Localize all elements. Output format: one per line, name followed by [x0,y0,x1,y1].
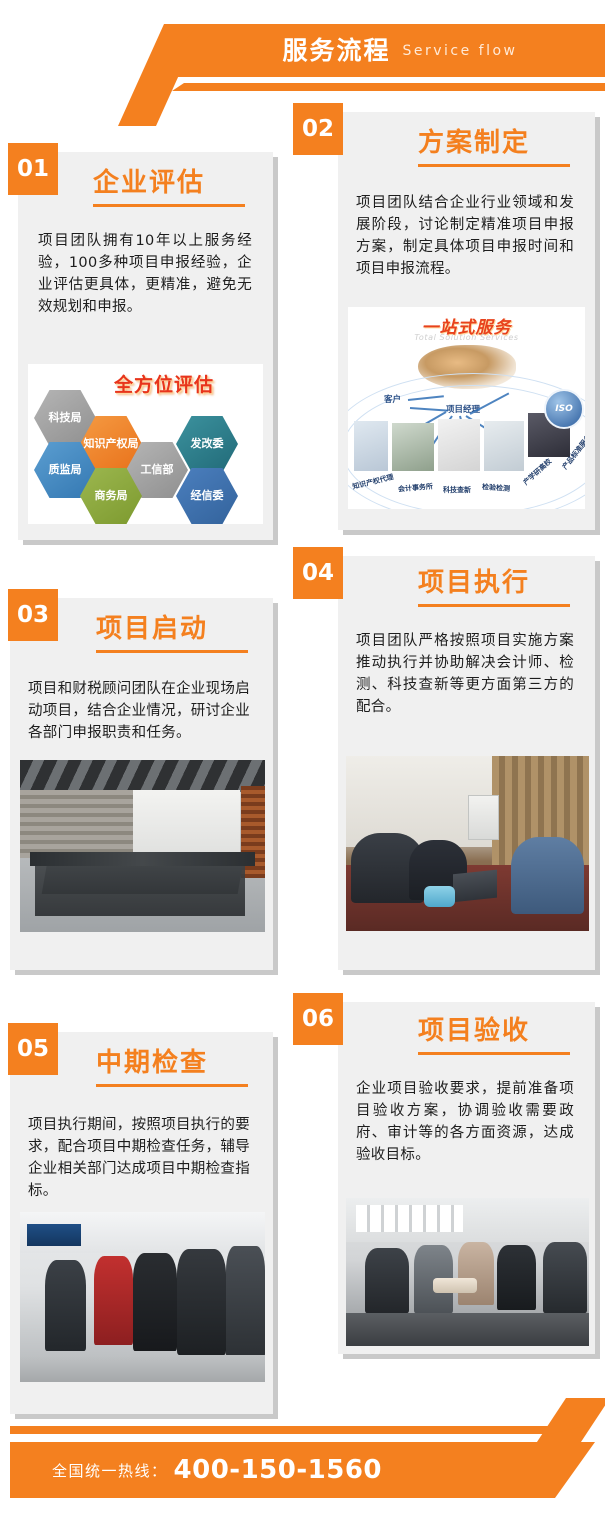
service-thumb-ip [354,421,388,471]
step-photo-06 [346,1198,589,1346]
hexagon-node-label: 发改委 [191,438,224,450]
hexagon-node-jingxinwei: 经信委 [176,468,238,524]
step-card-04: 项目执行 项目团队严格按照项目实施方案推动执行并协助解决会计师、检测、科技查新等… [338,556,595,970]
step-title-06: 项目验收 [418,1018,530,1044]
hexagon-node-label: 工信部 [141,464,174,476]
step-body-05: 项目执行期间，按照项目执行的要求，配合项目中期检查任务，辅导企业相关部门达成项目… [28,1114,250,1202]
iso-badge-icon: ISO [544,389,584,429]
step-photo-05 [20,1212,265,1382]
step-badge-01: 01 [8,143,58,195]
hotline-group: 全国统一热线： 400-150-1560 [52,1442,382,1498]
step-body-03: 项目和财税顾问团队在企业现场启动项目，结合企业情况，研讨企业各部门申报职责和任务… [28,678,250,744]
footer-top-rule [10,1426,585,1434]
step-badge-05: 05 [8,1023,58,1075]
service-label-testing: 检验检测 [482,482,511,494]
step-badge-03: 03 [8,589,58,641]
step-badge-06: 06 [293,993,343,1045]
hexagon-node-label: 科技局 [49,412,82,424]
hexagon-node-label: 商务局 [95,490,128,502]
step-body-06: 企业项目验收要求，提前准备项目验收方案，协调验收需要政府、审计等的各方面资源，达… [356,1078,574,1166]
step-card-05: 中期检查 项目执行期间，按照项目执行的要求，配合项目中期检查任务，辅导企业相关部… [10,1032,273,1414]
hexagon-figure-title: 全方位评估 [114,370,214,397]
hexagon-node-label: 知识产权局 [84,438,139,450]
step-title-rule-01 [93,204,245,207]
step-title-rule-02 [418,164,570,167]
header-title-en: Service flow [402,44,517,58]
step-title-04: 项目执行 [418,570,530,596]
step-card-02: 方案制定 项目团队结合企业行业领域和发展阶段，讨论制定精准项目申报方案，制定具体… [338,112,595,530]
footer-banner: 全国统一热线： 400-150-1560 [0,1398,605,1538]
hotline-label: 全国统一热线： [52,1460,168,1481]
step-title-rule-04 [418,604,570,607]
step-title-05: 中期检查 [96,1050,208,1076]
hexagon-node-label: 质监局 [49,464,82,476]
iso-badge-label: ISO [555,404,572,414]
step-title-01: 企业评估 [93,170,205,196]
hexagon-node-fagaiwei: 发改委 [176,416,238,472]
step-card-03: 项目启动 项目和财税顾问团队在企业现场启动项目，结合企业情况，研讨企业各部门申报… [10,598,273,970]
step-body-02: 项目团队结合企业行业领域和发展阶段，讨论制定精准项目申报方案，制定具体项目申报时… [356,192,574,280]
step-card-06: 项目验收 企业项目验收要求，提前准备项目验收方案，协调验收需要政府、审计等的各方… [338,1002,595,1354]
step-body-01: 项目团队拥有10年以上服务经验，100多种项目申报经验，企业评估更具体，更精准，… [38,230,252,318]
header-underline-rule [172,83,605,91]
assessment-hexagon-figure: 全方位评估 科技局 知识产权局 质监局 工信部 商务局 发改委 经信委 [28,364,263,524]
service-thumb-accounting [392,423,434,471]
step-title-rule-06 [418,1052,570,1055]
step-title-03: 项目启动 [96,616,208,642]
service-label-research: 科技查新 [443,485,471,495]
step-body-04: 项目团队严格按照项目实施方案推动执行并协助解决会计师、检测、科技查新等更方面第三… [356,630,574,718]
service-thumb-research [438,419,480,471]
step-badge-04: 04 [293,547,343,599]
step-title-rule-03 [96,650,248,653]
service-thumb-testing [484,421,524,471]
one-stop-service-figure: 一站式服务 Total Solution Services 客户 项目经理 [348,307,585,509]
header-banner: 服务流程 Service flow [0,0,605,110]
step-photo-04 [346,756,589,931]
step-photo-03 [20,760,265,932]
one-stop-subtitle: Total Solution Services [348,333,585,342]
header-text-group: 服务流程 Service flow [155,24,605,77]
header-title-cn: 服务流程 [282,38,390,63]
service-flow-infographic: 服务流程 Service flow 企业评估 项目团队拥有10年以上服务经验，1… [0,0,605,1538]
step-card-01: 企业评估 项目团队拥有10年以上服务经验，100多种项目申报经验，企业评估更具体… [18,152,273,540]
step-title-02: 方案制定 [418,130,530,156]
step-title-rule-05 [96,1084,248,1087]
hexagon-node-label: 经信委 [191,490,224,502]
one-stop-node-customer: 客户 [384,393,401,405]
step-badge-02: 02 [293,103,343,155]
hotline-number[interactable]: 400-150-1560 [174,1455,383,1485]
